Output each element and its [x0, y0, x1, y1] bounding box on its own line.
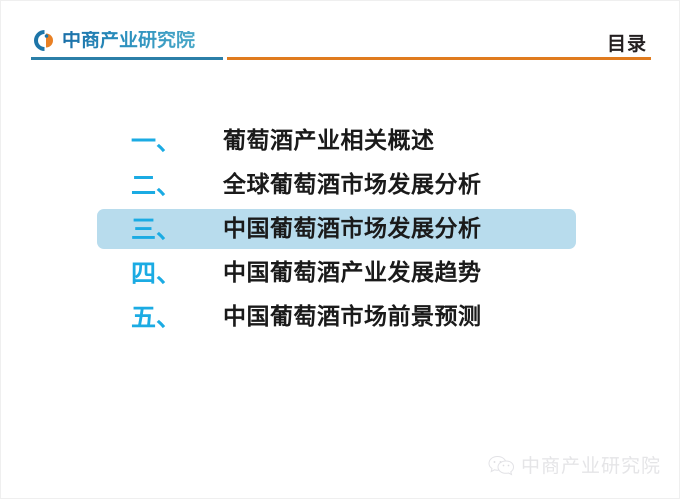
brand-logo: 中商产业研究院: [32, 28, 195, 53]
slide-canvas: 中商产业研究院 目录 一、 葡萄酒产业相关概述 二、 全球葡萄酒市场发展分析 三…: [0, 0, 680, 499]
brand-name: 中商产业研究院: [62, 31, 195, 50]
toc-item-label: 中国葡萄酒市场前景预测: [223, 306, 482, 329]
toc-item-3[interactable]: 三、 中国葡萄酒市场发展分析: [1, 207, 680, 251]
circle-c-logo-icon: [32, 28, 57, 53]
toc-item-number: 五、: [131, 305, 223, 330]
toc-item-number: 四、: [131, 261, 223, 286]
toc-item-label: 中国葡萄酒产业发展趋势: [223, 262, 482, 285]
toc-item-2[interactable]: 二、 全球葡萄酒市场发展分析: [1, 163, 680, 207]
header-rule-orange: [227, 57, 651, 60]
watermark-text: 中商产业研究院: [521, 451, 661, 478]
header-rule-blue: [31, 57, 223, 60]
table-of-contents: 一、 葡萄酒产业相关概述 二、 全球葡萄酒市场发展分析 三、 中国葡萄酒市场发展…: [1, 119, 680, 339]
toc-item-label: 全球葡萄酒市场发展分析: [223, 174, 482, 197]
page-title: 目录: [607, 29, 647, 56]
toc-item-1[interactable]: 一、 葡萄酒产业相关概述: [1, 119, 680, 163]
toc-item-label: 中国葡萄酒市场发展分析: [223, 218, 482, 241]
toc-item-label: 葡萄酒产业相关概述: [223, 130, 435, 153]
toc-item-5[interactable]: 五、 中国葡萄酒市场前景预测: [1, 295, 680, 339]
toc-item-number: 三、: [131, 217, 223, 242]
slide-header: 中商产业研究院 目录: [1, 1, 680, 71]
toc-item-number: 二、: [131, 173, 223, 198]
watermark: 中商产业研究院: [488, 451, 661, 478]
toc-item-4[interactable]: 四、 中国葡萄酒产业发展趋势: [1, 251, 680, 295]
toc-item-number: 一、: [131, 129, 223, 154]
wechat-icon: [488, 454, 514, 476]
